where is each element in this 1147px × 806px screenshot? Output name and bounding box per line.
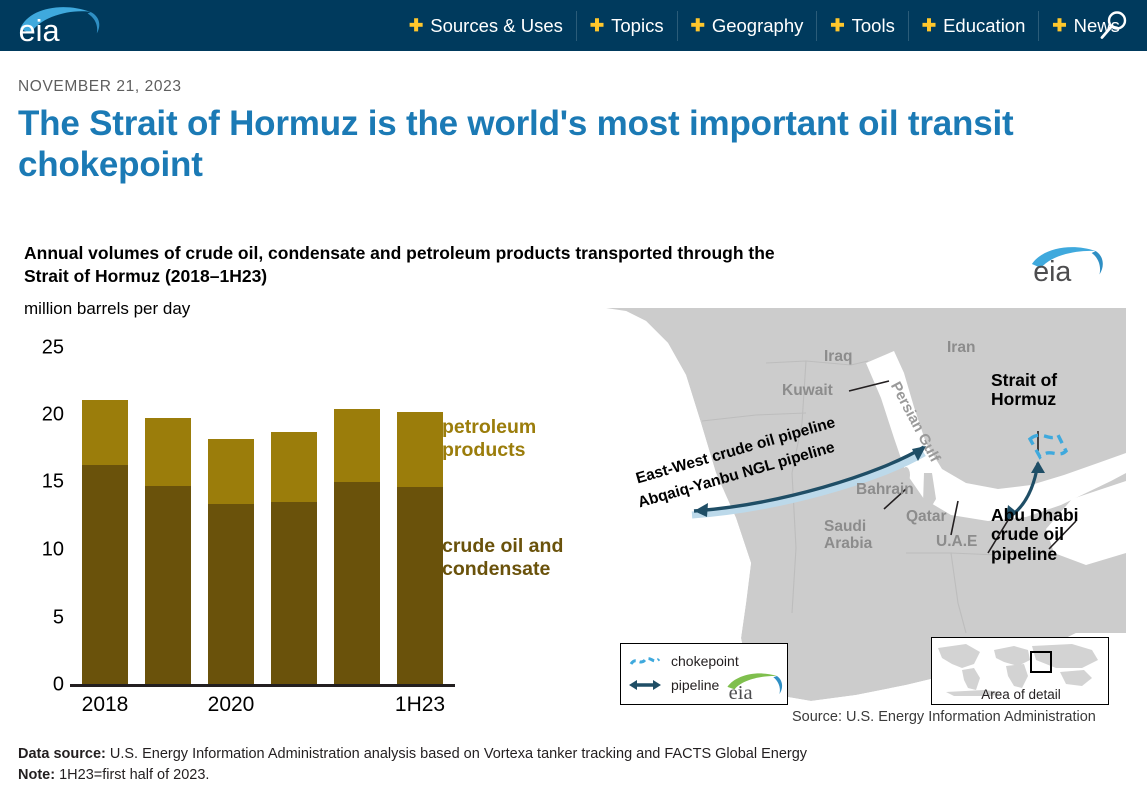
svg-text:eia: eia: [729, 682, 753, 704]
bar-segment-petroleum-products: [145, 418, 191, 487]
plus-icon: ✚: [691, 17, 705, 34]
bar-2021[interactable]: [271, 432, 317, 685]
map-label-saudi-arabia: Saudi Arabia: [824, 518, 872, 552]
map-label-iran: Iran: [947, 339, 975, 356]
footnotes: Data source: U.S. Energy Information Adm…: [18, 744, 1118, 786]
stacked-bar-chart: 25 20 15 10 5 0: [0, 330, 600, 730]
map-label-uae: U.A.E: [936, 533, 977, 550]
y-tick-15: 15: [20, 471, 64, 494]
svg-text:eia: eia: [19, 14, 61, 48]
nav-item-education[interactable]: ✚ Education: [908, 11, 1039, 41]
y-tick-10: 10: [20, 539, 64, 562]
map-callout-strait-of-hormuz: Strait of Hormuz: [991, 371, 1057, 410]
bar-1H23[interactable]: [397, 412, 443, 685]
plus-icon: ✚: [1052, 17, 1066, 34]
nav-item-sources-uses[interactable]: ✚ Sources & Uses: [396, 11, 576, 41]
bar-2022[interactable]: [334, 409, 380, 685]
pipeline-arrow-icon: [629, 678, 661, 692]
map-label-qatar: Qatar: [906, 508, 947, 525]
bar-segment-crude-and-condensate: [82, 465, 128, 686]
chokepoint-icon: [629, 654, 661, 668]
nav-item-label: Education: [943, 11, 1025, 41]
map-legend: chokepoint pipeline eia: [620, 643, 788, 705]
map-callout-abu-dhabi-pipeline: Abu Dhabi crude oil pipeline: [991, 506, 1079, 564]
footnote-data-source-text: U.S. Energy Information Administration a…: [106, 746, 807, 762]
nav-item-label: Geography: [712, 11, 804, 41]
footnote-note-text: 1H23=first half of 2023.: [55, 767, 209, 783]
top-navigation-bar: eia ✚ Sources & Uses ✚ Topics ✚ Geograph…: [0, 0, 1147, 51]
map-inset-area-of-detail: Area of detail: [931, 637, 1109, 705]
map-inset-caption: Area of detail: [932, 687, 1110, 702]
bar-segment-crude-and-condensate: [334, 482, 380, 685]
nav-item-tools[interactable]: ✚ Tools: [816, 11, 907, 41]
footnote-data-source-label: Data source:: [18, 746, 106, 762]
map-legend-label: chokepoint: [671, 653, 739, 669]
legend-petroleum-products: petroleum products: [442, 416, 572, 462]
bar-2020[interactable]: [208, 439, 254, 685]
x-tick-1H23: 1H23: [395, 693, 445, 717]
y-tick-25: 25: [20, 337, 64, 360]
chart-subtitle: million barrels per day: [24, 299, 190, 319]
footnote-data-source: Data source: U.S. Energy Information Adm…: [18, 744, 1118, 765]
bar-2019[interactable]: [145, 418, 191, 686]
map-legend-item-chokepoint: chokepoint: [629, 653, 739, 669]
x-tick-2020: 2020: [208, 693, 255, 717]
eia-figure-logo: eia: [1028, 243, 1106, 289]
map-legend-label: pipeline: [671, 677, 719, 693]
eia-logo[interactable]: eia: [14, 2, 106, 48]
bar-segment-petroleum-products: [334, 409, 380, 482]
y-tick-5: 5: [20, 607, 64, 630]
footnote-note: Note: 1H23=first half of 2023.: [18, 765, 1118, 786]
map-label-bahrain: Bahrain: [856, 481, 914, 498]
bar-segment-petroleum-products: [82, 400, 128, 465]
map-label-iraq: Iraq: [824, 348, 852, 365]
nav-links: ✚ Sources & Uses ✚ Topics ✚ Geography ✚ …: [396, 0, 1133, 51]
map-label-kuwait: Kuwait: [782, 382, 833, 399]
nav-item-label: Tools: [852, 11, 895, 41]
bar-segment-petroleum-products: [271, 432, 317, 502]
legend-crude-and-condensate: crude oil and condensate: [442, 535, 592, 581]
region-map[interactable]: Iraq Iran Kuwait Bahrain Qatar U.A.E Sau…: [606, 303, 1126, 728]
bar-segment-petroleum-products: [208, 439, 254, 504]
nav-item-label: Sources & Uses: [430, 11, 563, 41]
y-tick-0: 0: [20, 674, 64, 697]
x-tick-2018: 2018: [82, 693, 129, 717]
nav-item-label: Topics: [611, 11, 663, 41]
x-axis-line: [70, 684, 455, 687]
footnote-note-label: Note:: [18, 767, 55, 783]
plus-icon: ✚: [590, 17, 604, 34]
y-tick-20: 20: [20, 404, 64, 427]
bar-segment-crude-and-condensate: [145, 486, 191, 685]
bar-segment-crude-and-condensate: [208, 504, 254, 686]
eia-map-legend-logo: eia: [725, 671, 783, 704]
nav-item-geography[interactable]: ✚ Geography: [677, 11, 817, 41]
nav-item-topics[interactable]: ✚ Topics: [576, 11, 677, 41]
plus-icon: ✚: [830, 17, 844, 34]
page-title: The Strait of Hormuz is the world's most…: [18, 104, 1108, 186]
plot-area: [72, 330, 452, 685]
plus-icon: ✚: [922, 17, 936, 34]
map-source-text: Source: U.S. Energy Information Administ…: [792, 709, 1096, 725]
bar-segment-crude-and-condensate: [271, 502, 317, 685]
svg-text:eia: eia: [1033, 256, 1071, 288]
bar-segment-petroleum-products: [397, 412, 443, 487]
bar-segment-crude-and-condensate: [397, 487, 443, 685]
bar-2018[interactable]: [82, 400, 128, 685]
map-legend-item-pipeline: pipeline: [629, 677, 719, 693]
publication-date: NOVEMBER 21, 2023: [18, 78, 182, 96]
search-icon[interactable]: [1097, 9, 1131, 43]
plus-icon: ✚: [409, 17, 423, 34]
chart-title: Annual volumes of crude oil, condensate …: [24, 242, 814, 288]
y-axis-labels: 25 20 15 10 5 0: [18, 330, 64, 690]
